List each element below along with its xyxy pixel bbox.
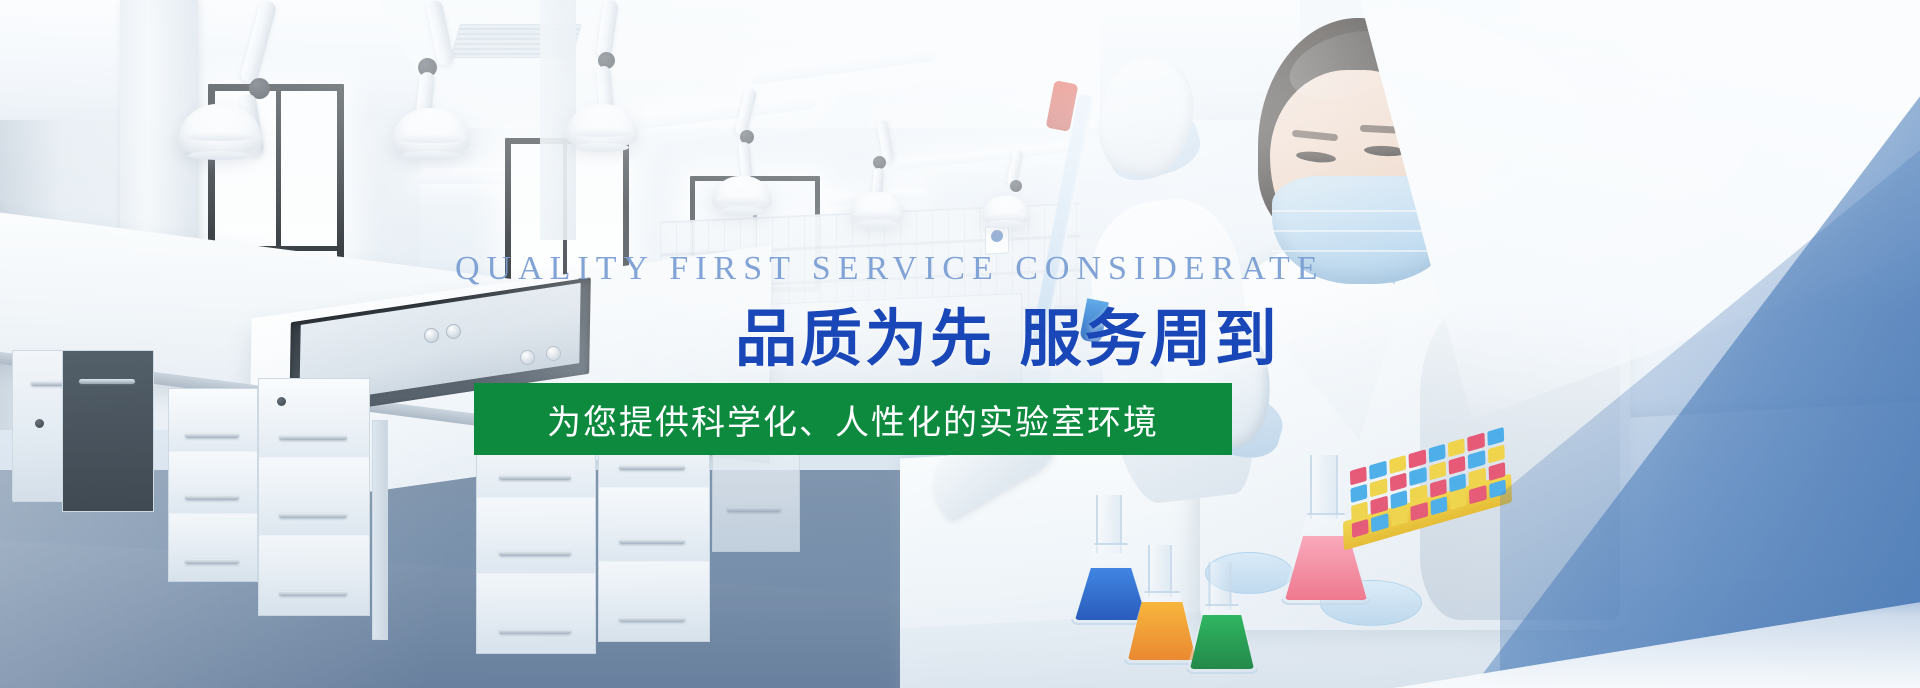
banner-subtitle-bar: 为您提供科学化、人性化的实验室环境 bbox=[474, 383, 1232, 455]
banner-headline: 品质为先 服务周到 bbox=[735, 288, 1280, 378]
banner-copy: QUALITY FIRST SERVICE CONSIDERATE 品质为先 服… bbox=[0, 0, 1920, 688]
banner-eyebrow-text: QUALITY FIRST SERVICE CONSIDERATE bbox=[455, 250, 1235, 288]
banner-subtitle-text: 为您提供科学化、人性化的实验室环境 bbox=[547, 395, 1159, 444]
hero-banner: QUALITY FIRST SERVICE CONSIDERATE 品质为先 服… bbox=[0, 0, 1920, 688]
